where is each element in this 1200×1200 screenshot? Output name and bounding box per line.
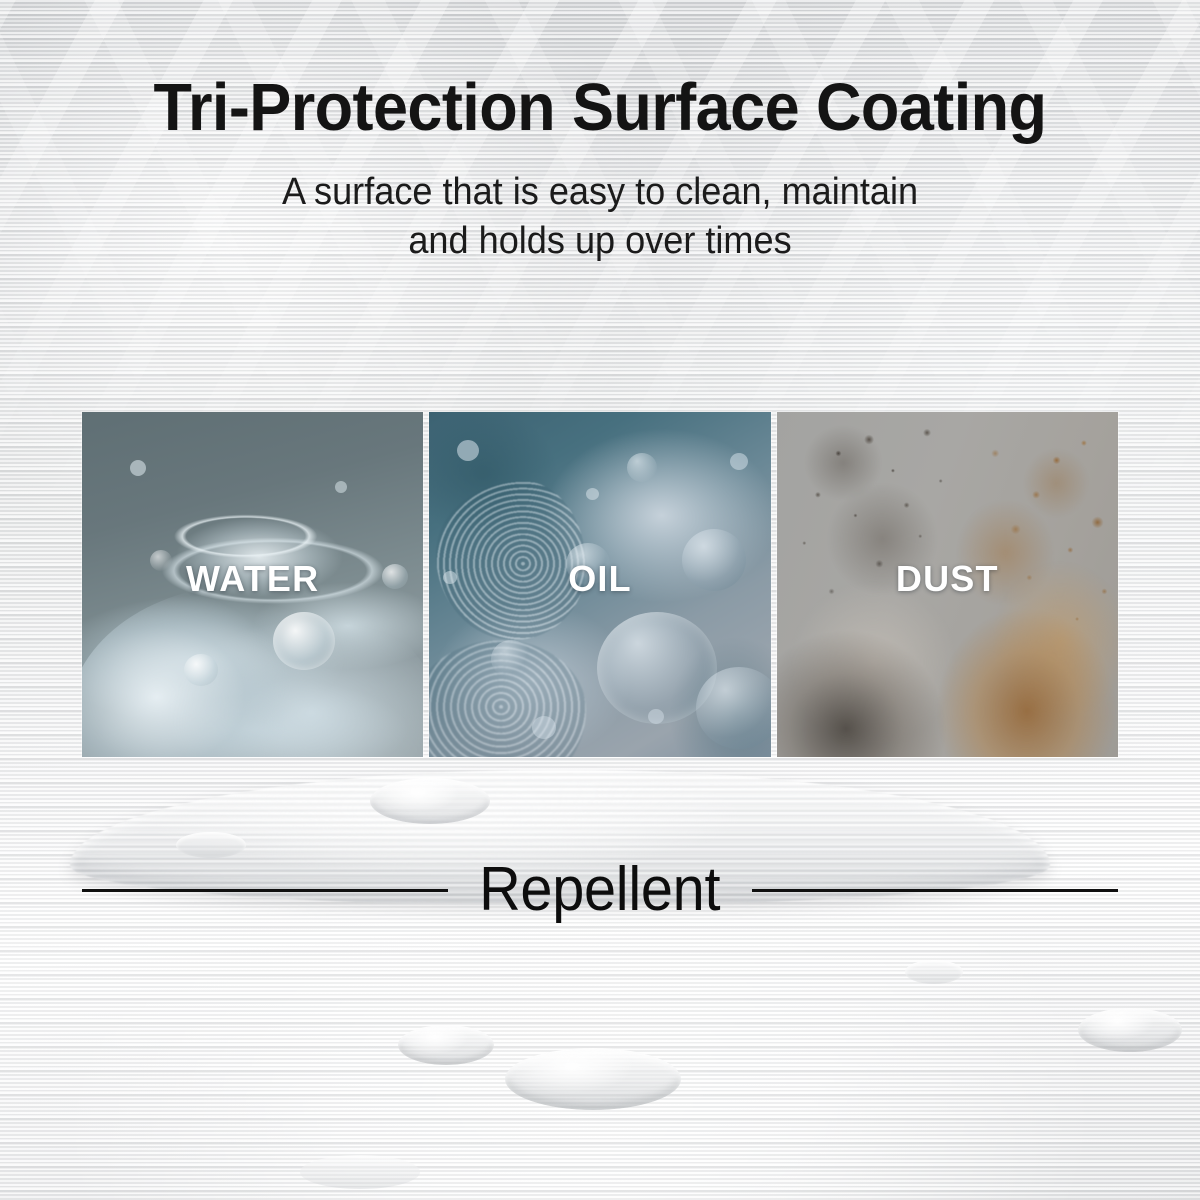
feature-panel-oil[interactable]: OIL [429,412,770,757]
feature-panel-group: WATER OIL [82,412,1118,757]
page-title: Tri-Protection Surface Coating [36,74,1164,142]
oil-bubble [457,440,479,461]
panel-label-oil: OIL [568,558,632,600]
poster-canvas: Tri-Protection Surface Coating A surface… [0,0,1200,1200]
panel-label-water: WATER [186,558,319,600]
subtitle-line-1: A surface that is easy to clean, maintai… [30,168,1170,217]
feature-panel-water[interactable]: WATER [82,412,423,757]
oil-bubble [648,709,664,724]
panel-label-dust: DUST [896,558,999,600]
water-bubble [335,481,347,493]
page-subtitle: A surface that is easy to clean, maintai… [30,168,1170,265]
feature-panel-dust[interactable]: DUST [777,412,1118,757]
divider-line-left [82,889,448,892]
footer-label: Repellent [479,859,720,921]
water-bubble [273,612,335,670]
divider-line-right [752,889,1118,892]
oil-bubble [491,640,531,678]
oil-bubble [532,716,556,739]
water-bubble [382,564,408,589]
water-bubble [130,460,146,476]
oil-bubble [682,529,746,591]
oil-bubble [443,571,457,584]
heading-block: Tri-Protection Surface Coating A surface… [0,74,1200,266]
oil-bubble [730,453,748,470]
footer-block: Repellent [0,848,1200,932]
subtitle-line-2: and holds up over times [30,217,1170,266]
water-bubble [184,654,218,686]
